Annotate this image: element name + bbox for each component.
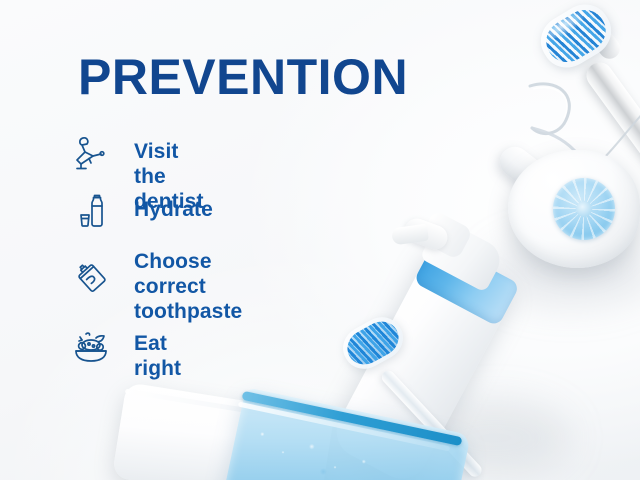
text-overlay: PREVENTION Visit the dentist [0,0,640,480]
dental-chair-icon [70,132,112,174]
toothpaste-tube-icon [70,256,112,298]
salad-bowl-icon [70,324,112,366]
list-item-label: Eat right [134,332,181,382]
poster-canvas: PREVENTION Visit the dentist [0,0,640,480]
water-bottle-glass-icon [70,190,112,232]
list-item-label: Choose correct toothpaste [134,250,242,324]
page-title: PREVENTION [78,52,408,102]
list-item-label: Hydrate [134,198,213,223]
